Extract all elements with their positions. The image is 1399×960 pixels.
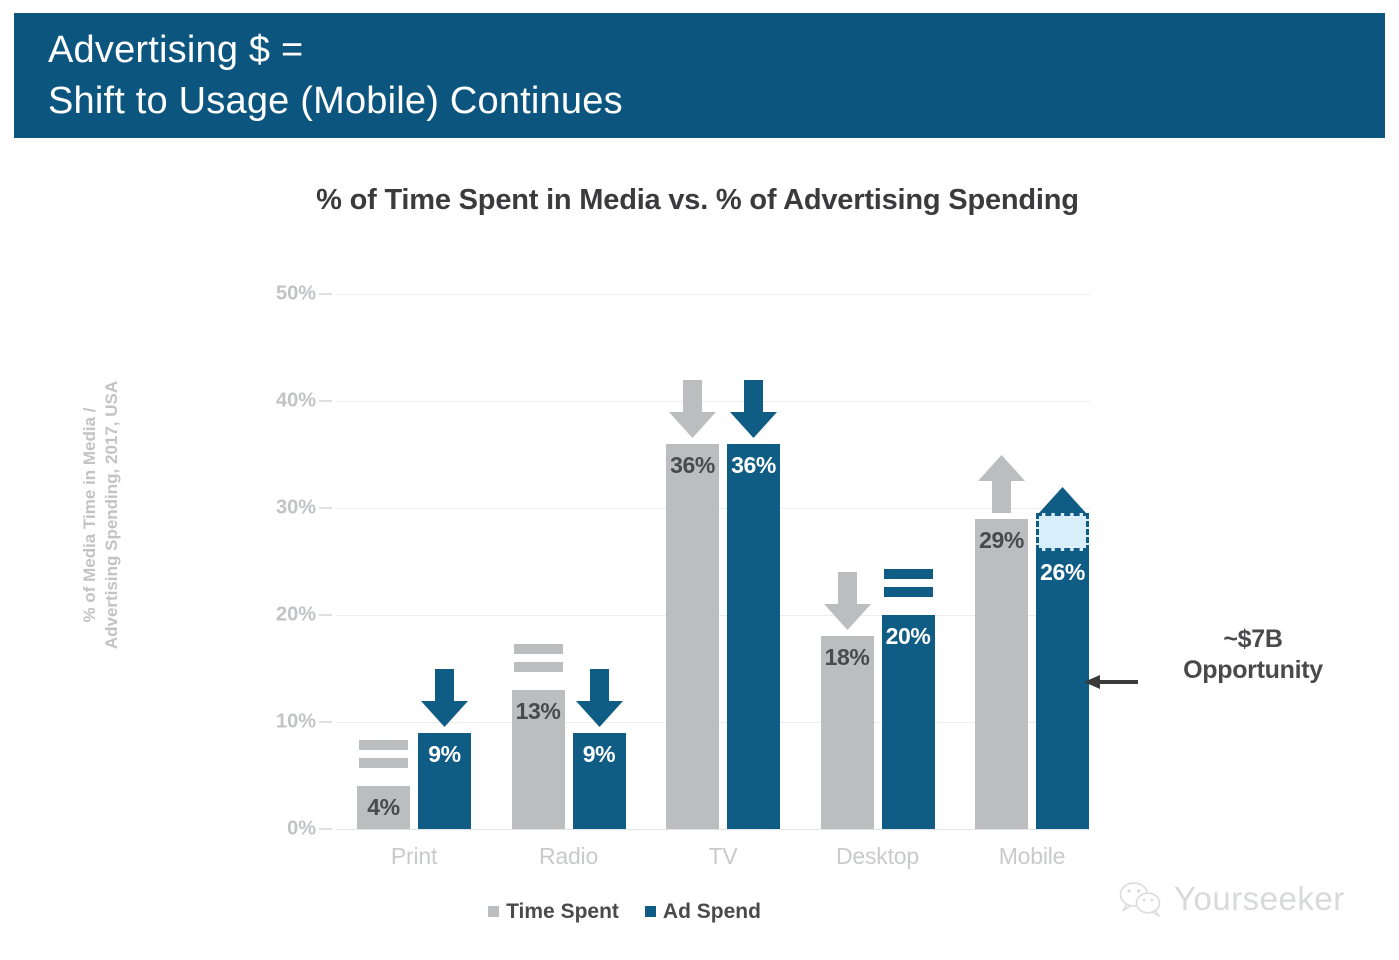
bar-mobile-time-spent[interactable]: 29%: [975, 519, 1028, 829]
bar-radio-time-spent[interactable]: 13%: [512, 690, 565, 829]
legend-item-ad-spend[interactable]: Ad Spend: [645, 900, 761, 924]
y-tick-mark: [319, 400, 332, 402]
bar-desktop-time-spent[interactable]: 18%: [821, 636, 874, 829]
arrow-down-icon: [727, 378, 780, 440]
bar-value-label: 20%: [882, 623, 935, 650]
bar-value-label: 4%: [357, 794, 410, 821]
bar-print-ad-spend[interactable]: 9%: [418, 733, 471, 829]
header-banner: Advertising $ = Shift to Usage (Mobile) …: [14, 13, 1385, 138]
x-axis-label-mobile: Mobile: [957, 843, 1107, 870]
equals-icon: [357, 720, 410, 782]
chart-container: % of Time Spent in Media vs. % of Advert…: [0, 138, 1399, 960]
arrow-up-icon: [975, 453, 1028, 515]
bar-group-tv: 36%36%TV: [666, 294, 780, 829]
callout-arrow-icon: [1082, 672, 1138, 692]
watermark: Yourseeker: [1118, 880, 1345, 918]
y-tick-label: 20%: [276, 604, 316, 627]
bar-radio-ad-spend[interactable]: 9%: [573, 733, 626, 829]
bar-tv-ad-spend[interactable]: 36%: [727, 444, 780, 829]
arrow-down-icon: [821, 570, 874, 632]
y-tick-mark: [319, 828, 332, 830]
bar-value-label: 9%: [418, 741, 471, 768]
y-tick-label: 40%: [276, 390, 316, 413]
bar-group-radio: 13%9%Radio: [512, 294, 626, 829]
bar-value-label: 26%: [1036, 559, 1089, 586]
y-tick-mark: [319, 293, 332, 295]
legend-swatch: [645, 906, 656, 917]
arrow-down-icon: [418, 667, 471, 729]
legend-swatch: [488, 906, 499, 917]
bar-value-label: 13%: [512, 698, 565, 725]
bar-group-print: 4%9%Print: [357, 294, 471, 829]
arrow-down-icon: [666, 378, 719, 440]
wechat-icon: [1118, 880, 1164, 918]
x-axis-label-desktop: Desktop: [803, 843, 953, 870]
equals-icon: [512, 624, 565, 686]
arrow-down-icon: [573, 667, 626, 729]
equals-icon: [882, 549, 935, 611]
bar-group-mobile: 29%26%Mobile: [975, 294, 1089, 829]
watermark-text: Yourseeker: [1174, 880, 1345, 918]
y-tick-mark: [319, 614, 332, 616]
bar-value-label: 36%: [727, 452, 780, 479]
y-tick-label: 10%: [276, 711, 316, 734]
bar-group-desktop: 18%20%Desktop: [821, 294, 935, 829]
chart-title-text: % of Time Spent in Media vs. % of Advert…: [316, 184, 1079, 217]
y-tick-label: 30%: [276, 497, 316, 520]
x-axis-label-print: Print: [339, 843, 489, 870]
y-tick-mark: [319, 721, 332, 723]
page-title: Advertising $ = Shift to Usage (Mobile) …: [48, 25, 623, 127]
bar-value-label: 18%: [821, 644, 874, 671]
y-axis-label: % of Media Time in Media / Advertising S…: [79, 350, 123, 680]
opportunity-amount: ~$7B: [1138, 625, 1368, 654]
bar-print-time-spent[interactable]: 4%: [357, 786, 410, 829]
bar-value-label: 9%: [573, 741, 626, 768]
y-tick-label: 50%: [276, 283, 316, 306]
opportunity-callout: ~$7B Opportunity: [1138, 625, 1368, 685]
opportunity-label: Opportunity: [1138, 656, 1368, 685]
y-tick-label: 0%: [287, 818, 316, 841]
bar-tv-time-spent[interactable]: 36%: [666, 444, 719, 829]
legend-label: Time Spent: [506, 900, 619, 923]
bar-desktop-ad-spend[interactable]: 20%: [882, 615, 935, 829]
opportunity-box: [1036, 513, 1089, 550]
legend-items: Time SpentAd Spend: [475, 900, 774, 924]
x-axis-label-tv: TV: [648, 843, 798, 870]
bar-value-label: 36%: [666, 452, 719, 479]
bar-value-label: 29%: [975, 527, 1028, 554]
legend-label: Ad Spend: [663, 900, 761, 923]
x-axis-label-radio: Radio: [494, 843, 644, 870]
y-tick-mark: [319, 507, 332, 509]
chart-title: % of Time Spent in Media vs. % of Advert…: [0, 184, 1399, 217]
plot-area: 0%10%20%30%40%50% 4%9%Print13%9%Radio36%…: [336, 294, 1090, 829]
gridline: [336, 829, 1090, 830]
legend-item-time-spent[interactable]: Time Spent: [488, 900, 619, 924]
